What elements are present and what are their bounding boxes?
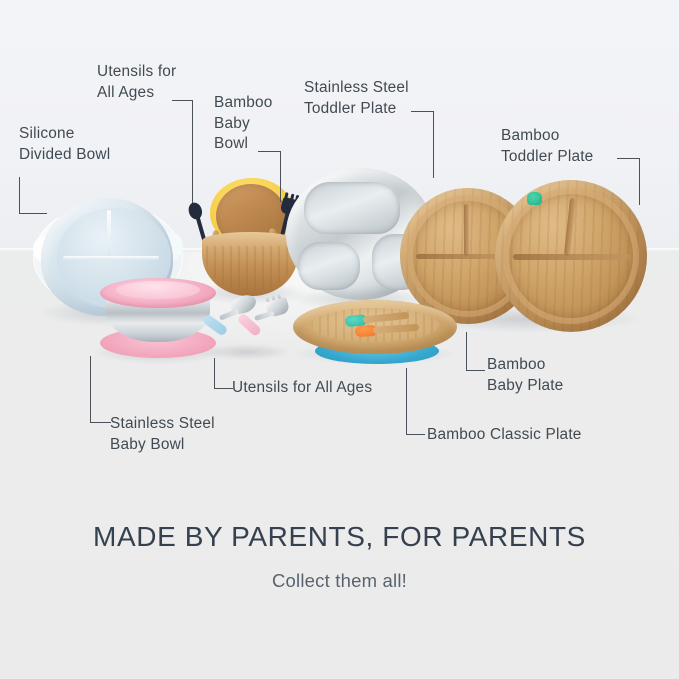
steel-plate-compartment-large — [304, 182, 400, 234]
label-stainless-steel-toddler-plate: Stainless Steel Toddler Plate — [304, 78, 409, 119]
leader-bamboo-baby-plate — [466, 332, 486, 372]
silicone-bowl-divider-horizontal — [63, 256, 159, 260]
infographic-canvas: Silicone Divided Bowl Utensils for All A… — [0, 0, 679, 679]
leader-steel-baby-bowl — [90, 356, 112, 424]
bamboo-plate-front-divider-horizontal — [513, 254, 631, 260]
footer-subline: Collect them all! — [0, 570, 679, 592]
label-bamboo-baby-plate: Bamboo Baby Plate — [487, 355, 563, 396]
footer-headline: MADE BY PARENTS, FOR PARENTS — [0, 521, 679, 553]
product-utensils-for-all-ages — [202, 298, 288, 360]
leader-steel-toddler-plate — [411, 111, 435, 179]
bamboo-plate-suction-tab-icon — [527, 192, 542, 205]
steel-plate-compartment-left — [298, 242, 360, 290]
leader-utensils-bottom — [214, 358, 234, 390]
silicone-bowl-divider-vertical — [107, 210, 111, 258]
leader-utensils-top — [172, 100, 194, 204]
label-utensils-for-all-ages-bottom: Utensils for All Ages — [232, 378, 372, 399]
label-stainless-steel-baby-bowl: Stainless Steel Baby Bowl — [110, 414, 215, 455]
label-bamboo-toddler-plate: Bamboo Toddler Plate — [501, 126, 593, 167]
bamboo-plate-back-divider-vertical — [464, 204, 469, 256]
steel-fork-neck — [254, 311, 275, 321]
leader-bamboo-classic-plate — [406, 368, 426, 436]
label-utensils-for-all-ages-top: Utensils for All Ages — [97, 62, 176, 103]
label-silicone-divided-bowl: Silicone Divided Bowl — [19, 124, 110, 165]
steel-baby-bowl-lid-top — [116, 281, 200, 299]
label-bamboo-classic-plate: Bamboo Classic Plate — [427, 425, 582, 446]
leader-bamboo-toddler-plate — [617, 158, 641, 206]
leader-silicone-divided-bowl — [19, 177, 49, 215]
leader-bamboo-baby-bowl — [258, 151, 282, 203]
product-bamboo-classic-plate — [293, 300, 457, 368]
label-bamboo-baby-bowl: Bamboo Baby Bowl — [214, 93, 273, 155]
